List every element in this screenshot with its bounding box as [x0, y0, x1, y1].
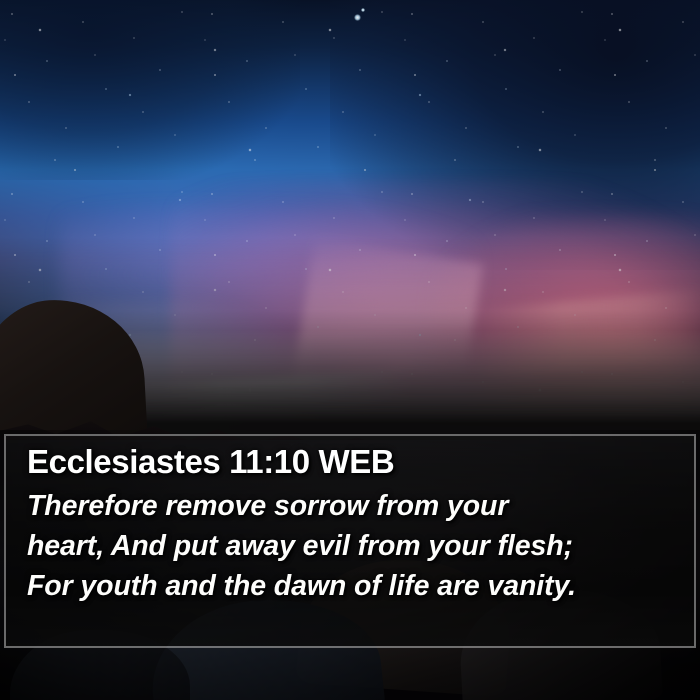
verse-line-2: heart, And put away evil from your flesh… — [27, 526, 680, 566]
verse-content: Ecclesiastes 11:10 WEB Therefore remove … — [6, 436, 694, 606]
verse-text: Therefore remove sorrow from your heart,… — [27, 486, 680, 606]
verse-line-3: For youth and the dawn of life are vanit… — [27, 566, 680, 606]
verse-reference-title: Ecclesiastes 11:10 WEB — [27, 442, 680, 482]
verse-overlay-band: Ecclesiastes 11:10 WEB Therefore remove … — [4, 434, 696, 648]
verse-image: Ecclesiastes 11:10 WEB Therefore remove … — [0, 0, 700, 700]
verse-line-1: Therefore remove sorrow from your — [27, 486, 680, 526]
